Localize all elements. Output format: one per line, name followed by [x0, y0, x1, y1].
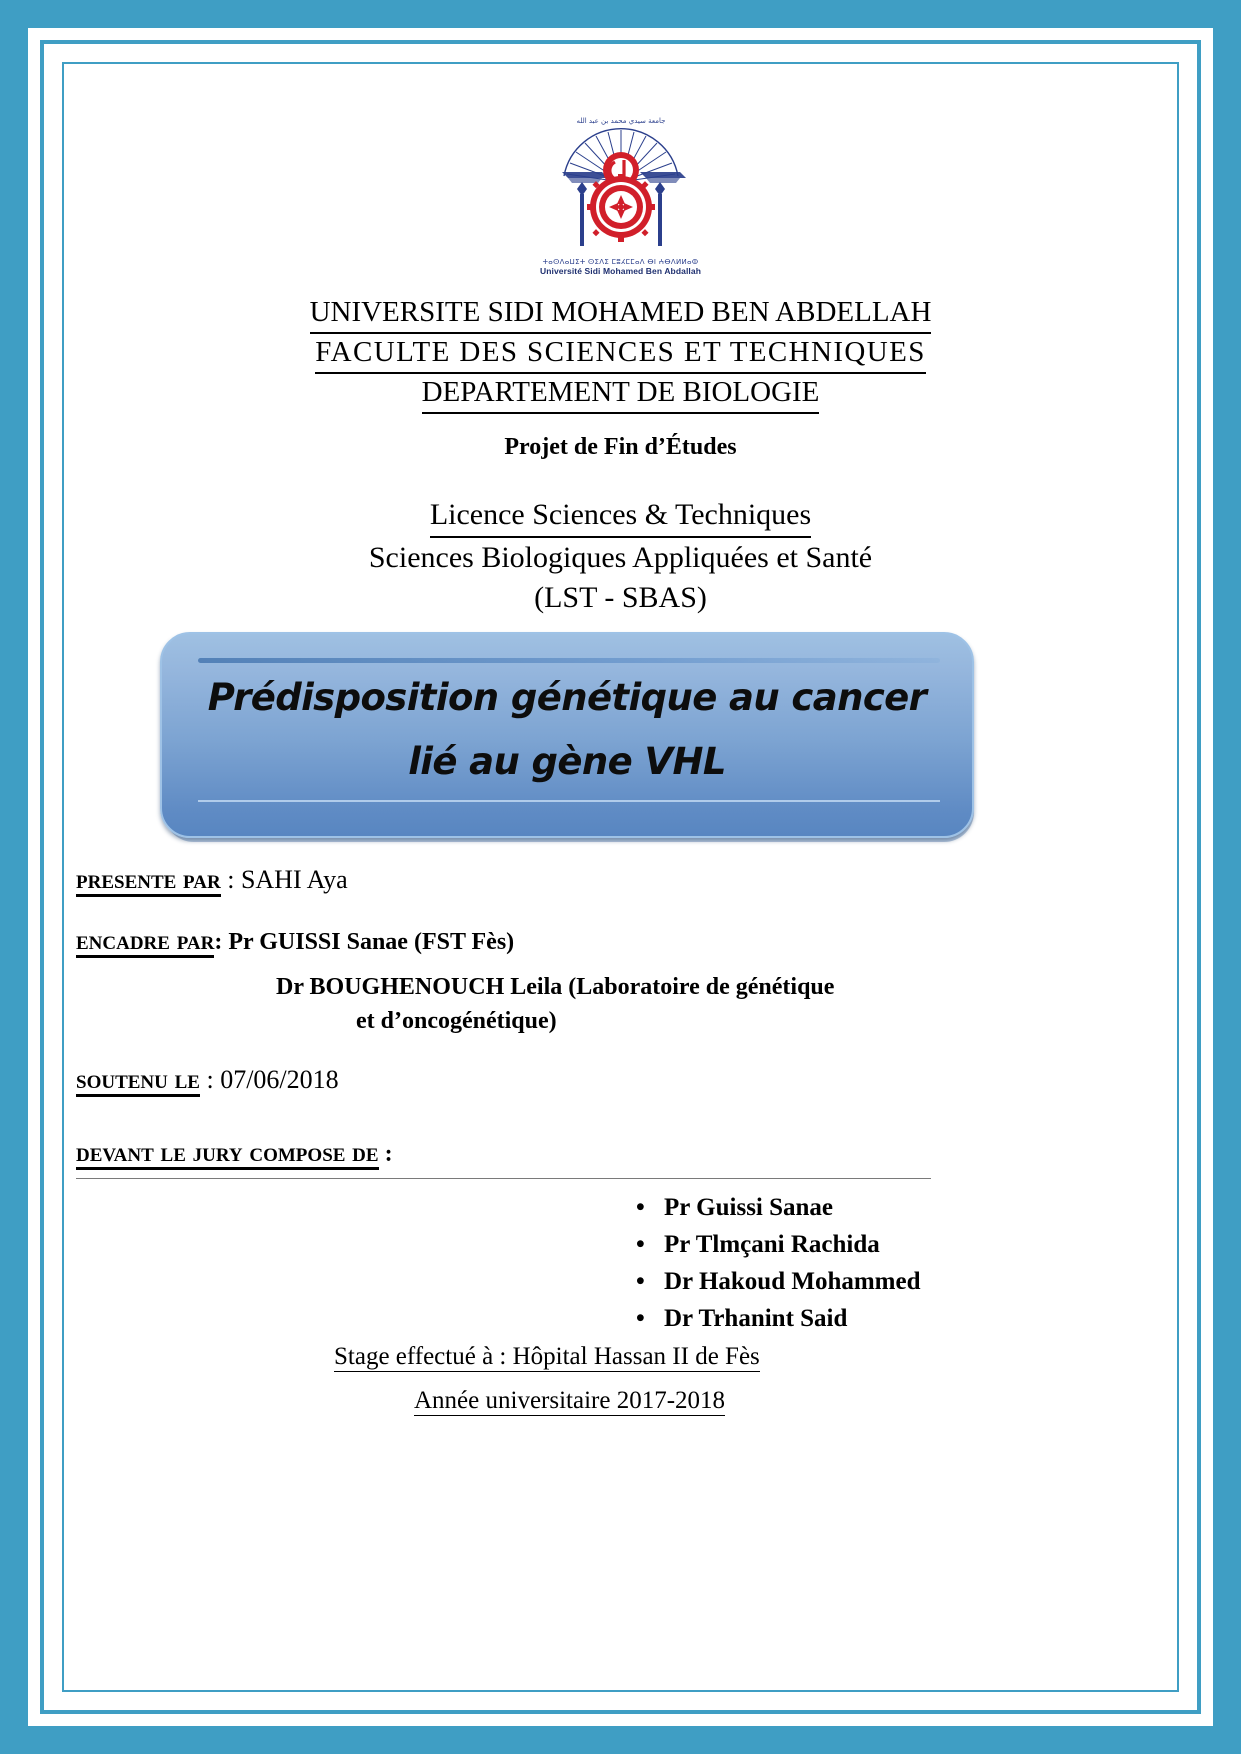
jury-member-name: Pr Guissi Sanae — [664, 1194, 833, 1221]
supervised-by-value: Pr GUISSI Sanae (FST Fès) — [228, 929, 514, 955]
presented-by-value: SAHI Aya — [241, 865, 348, 894]
header-line-faculty: FACULTE DES SCIENCES ET TECHNIQUES — [64, 334, 1177, 374]
list-item: •Dr Trhanint Said — [76, 1300, 1166, 1337]
degree-block: Licence Sciences & Techniques Sciences B… — [64, 494, 1177, 618]
header-line-university: UNIVERSITE SIDI MOHAMED BEN ABDELLAH — [64, 294, 1177, 334]
bullet-icon: • — [636, 1263, 645, 1300]
project-type-label: Projet de Fin d’Études — [64, 434, 1177, 461]
title-banner: Prédisposition génétique au cancer lié a… — [160, 632, 974, 838]
bullet-icon: • — [636, 1226, 645, 1263]
list-item: • Pr Tlmçani Rachida — [76, 1226, 1166, 1263]
thesis-title-line2: lié au gène VHL — [162, 730, 972, 794]
supervised-by-label: Encadre par — [76, 925, 214, 958]
jury-member-list: •Pr Guissi Sanae • Pr Tlmçani Rachida •D… — [76, 1189, 1166, 1337]
banner-highlight-bottom — [198, 800, 940, 802]
thesis-title-line1: Prédisposition génétique au cancer — [162, 666, 972, 730]
jury-member-name: Pr Tlmçani Rachida — [664, 1231, 880, 1258]
university-logo: جامعة سيدي محمد بن عبد الله — [64, 110, 1177, 276]
list-item: •Dr Hakoud Mohammed — [76, 1263, 1166, 1300]
bullet-icon: • — [636, 1189, 645, 1226]
supervised-by-row: Encadre par: Pr GUISSI Sanae (FST Fès) — [76, 925, 1166, 956]
degree-line-licence: Licence Sciences & Techniques — [64, 494, 1177, 538]
thesis-title: Prédisposition génétique au cancer lié a… — [162, 666, 972, 794]
svg-text:جامعة سيدي محمد بن عبد الله: جامعة سيدي محمد بن عبد الله — [576, 117, 665, 125]
logo-tifinagh-caption: ⵜⴰⵙⴷⴰⵡⵉⵜ ⵙⵉⴷⵉ ⵎⵓⵃⵎⵎⴰⴷ ⴱⵏ ⵄⴱⴷⵍⵍⴰⵀ — [64, 258, 1177, 266]
university-header: UNIVERSITE SIDI MOHAMED BEN ABDELLAH FAC… — [64, 294, 1177, 414]
bullet-icon: • — [636, 1300, 645, 1337]
supervisor-secondary: Dr BOUGHENOUCH Leila (Laboratoire de gén… — [276, 970, 1166, 1038]
academic-year: Année universitaire 2017-2018 — [414, 1387, 1166, 1415]
list-item: •Pr Guissi Sanae — [76, 1189, 1166, 1226]
header-line-department: DEPARTEMENT DE BIOLOGIE — [64, 374, 1177, 414]
defended-on-separator: : — [200, 1065, 220, 1094]
jury-heading-separator: : — [379, 1141, 393, 1167]
jury-member-name: Dr Hakoud Mohammed — [664, 1268, 921, 1295]
presented-by-label: Presente par — [76, 864, 221, 897]
credits-block: Presente par : SAHI Aya Encadre par: Pr … — [76, 864, 1166, 1415]
jury-heading-label: Devant le jury compose de — [76, 1137, 379, 1170]
presented-by-separator: : — [221, 865, 241, 894]
defended-on-row: Soutenu le : 07/06/2018 — [76, 1064, 1166, 1095]
presented-by-row: Presente par : SAHI Aya — [76, 864, 1166, 895]
logo-latin-caption: Université Sidi Mohamed Ben Abdallah — [64, 266, 1177, 276]
supervisor-secondary-line2: et d’oncogénétique) — [356, 1004, 557, 1038]
supervised-by-separator: : — [214, 929, 228, 955]
defended-on-value: 07/06/2018 — [220, 1065, 338, 1094]
internship-location: Stage effectué à : Hôpital Hassan II de … — [334, 1343, 1166, 1371]
supervisor-secondary-line1: Dr BOUGHENOUCH Leila (Laboratoire de gén… — [276, 970, 1166, 1004]
document-content: جامعة سيدي محمد بن عبد الله — [64, 64, 1177, 1690]
jury-divider — [76, 1178, 931, 1179]
jury-member-name: Dr Trhanint Said — [664, 1305, 847, 1332]
degree-line-specialty: Sciences Biologiques Appliquées et Santé — [64, 538, 1177, 578]
jury-heading-row: Devant le jury compose de : — [76, 1137, 1166, 1168]
degree-line-acronym: (LST - SBAS) — [64, 578, 1177, 618]
university-crest-icon: جامعة سيدي محمد بن عبد الله — [546, 110, 696, 257]
banner-highlight-top — [198, 658, 940, 663]
defended-on-label: Soutenu le — [76, 1064, 200, 1097]
